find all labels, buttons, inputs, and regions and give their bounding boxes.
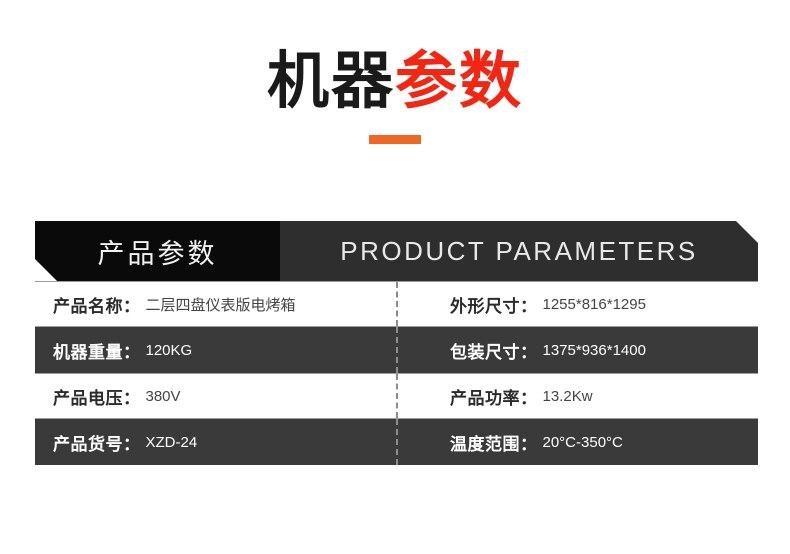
column-divider: [396, 419, 398, 465]
parameter-value: XZD-24: [146, 434, 198, 451]
title-underline-accent: [369, 135, 421, 144]
parameter-value: 1375*936*1400: [543, 342, 646, 359]
parameter-label: 机器重量：: [53, 338, 141, 363]
table-row: 产品名称： 二层四盘仪表版电烤箱 外形尺寸： 1255*816*1295: [35, 281, 758, 327]
parameter-label: 产品货号：: [53, 430, 141, 455]
parameter-label: 产品功率：: [450, 384, 538, 409]
parameter-value: 120KG: [146, 342, 193, 359]
table-header-en-label: PRODUCT PARAMETERS: [280, 221, 758, 281]
table-cell-right: 温度范围： 20°C-350°C: [396, 419, 758, 465]
parameter-label: 产品名称：: [53, 292, 141, 317]
table-row: 产品电压： 380V 产品功率： 13.2Kw: [35, 373, 758, 419]
table-header-cn-label: 产品参数: [35, 221, 280, 281]
parameter-label: 外形尺寸：: [450, 292, 538, 317]
column-divider: [396, 282, 398, 326]
table-cell-left: 产品名称： 二层四盘仪表版电烤箱: [35, 282, 396, 326]
page-title: 机器参数: [0, 46, 790, 117]
table-cell-left: 产品货号： XZD-24: [35, 419, 396, 465]
table-cell-left: 机器重量： 120KG: [35, 327, 396, 373]
table-cell-right: 包装尺寸： 1375*936*1400: [396, 327, 758, 373]
table-row: 机器重量： 120KG 包装尺寸： 1375*936*1400: [35, 327, 758, 373]
page-title-red-part: 参数: [395, 47, 523, 116]
page-title-dark-part: 机器: [267, 47, 395, 116]
table-header: 产品参数 PRODUCT PARAMETERS: [35, 221, 758, 281]
page-title-block: 机器参数: [0, 0, 790, 144]
table-body: 产品名称： 二层四盘仪表版电烤箱 外形尺寸： 1255*816*1295 机器重…: [35, 281, 758, 465]
table-cell-right: 外形尺寸： 1255*816*1295: [396, 282, 758, 326]
parameter-label: 包装尺寸：: [450, 338, 538, 363]
column-divider: [396, 327, 398, 373]
column-divider: [396, 374, 398, 418]
parameter-value: 二层四盘仪表版电烤箱: [146, 294, 296, 315]
parameter-value: 380V: [146, 388, 181, 405]
table-row: 产品货号： XZD-24 温度范围： 20°C-350°C: [35, 419, 758, 465]
table-cell-right: 产品功率： 13.2Kw: [396, 374, 758, 418]
table-cell-left: 产品电压： 380V: [35, 374, 396, 418]
parameter-value: 20°C-350°C: [543, 434, 623, 451]
parameter-value: 1255*816*1295: [543, 296, 646, 313]
product-parameters-table: 产品参数 PRODUCT PARAMETERS 产品名称： 二层四盘仪表版电烤箱…: [35, 221, 758, 465]
parameter-label: 产品电压：: [53, 384, 141, 409]
parameter-label: 温度范围：: [450, 430, 538, 455]
parameter-value: 13.2Kw: [543, 388, 593, 405]
